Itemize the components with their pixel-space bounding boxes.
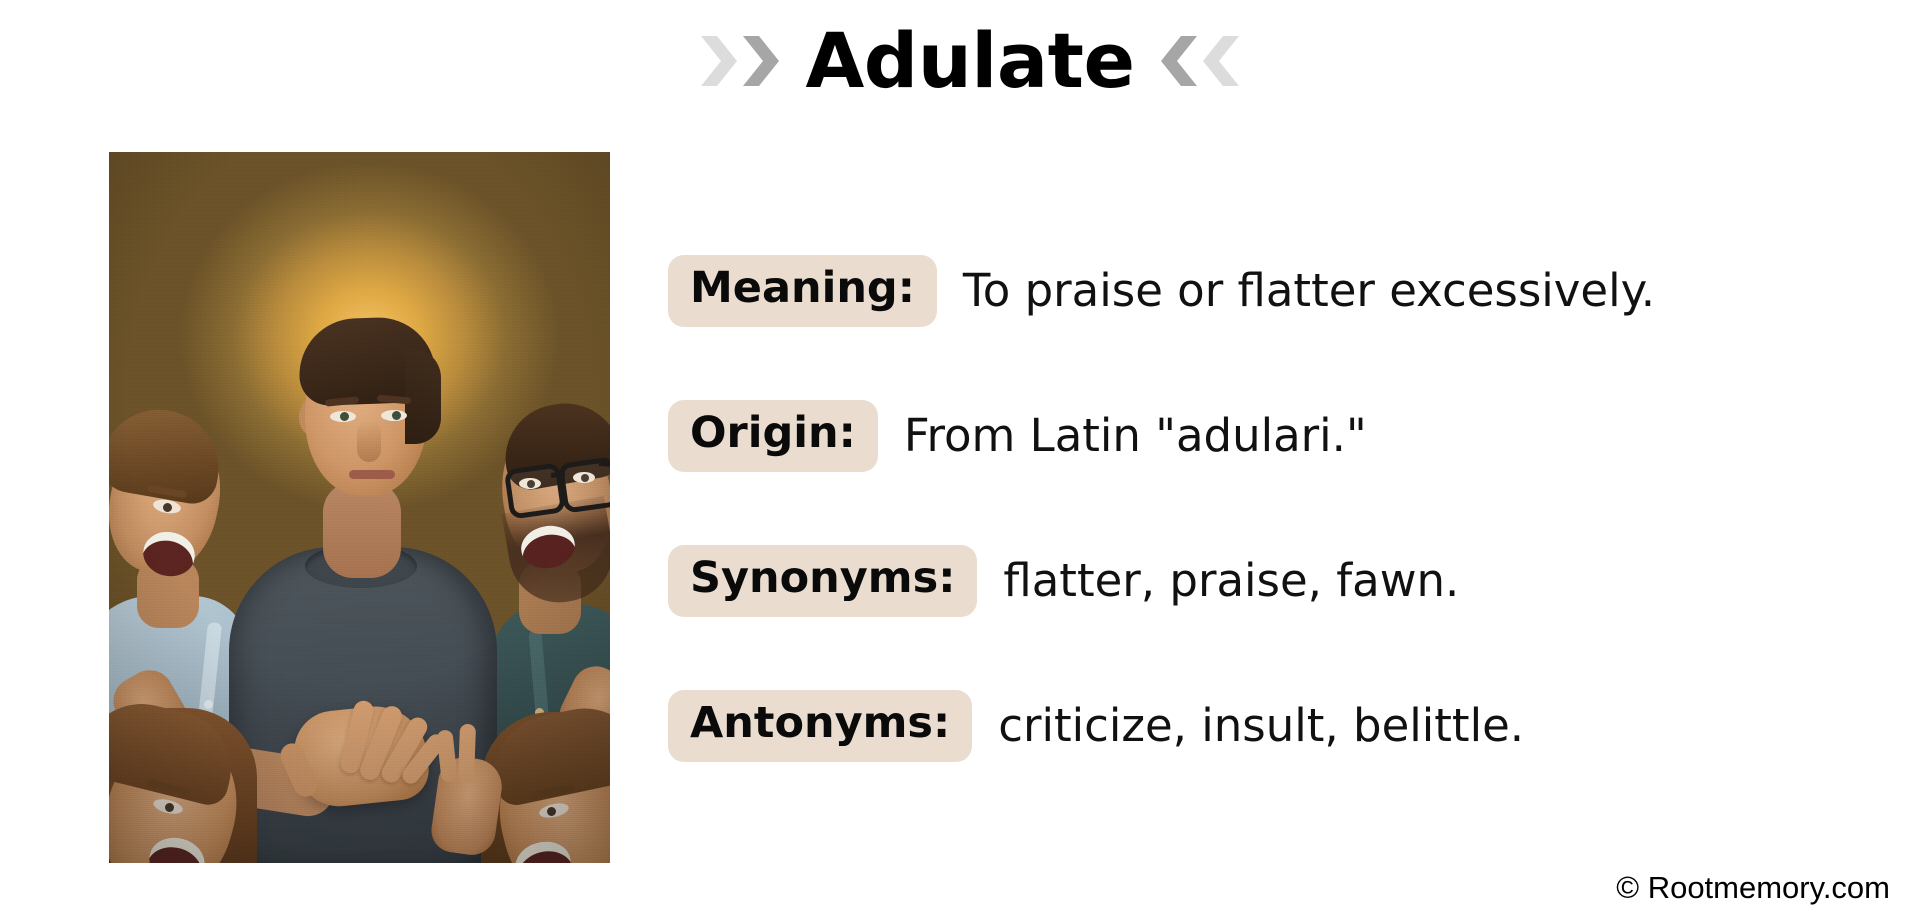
page-title: Adulate — [620, 6, 1320, 116]
definition-list: Meaning: To praise or flatter excessivel… — [668, 248, 1655, 769]
origin-label: Origin: — [668, 400, 878, 471]
meaning-value: To praise or flatter excessively. — [963, 266, 1655, 316]
synonyms-label: Synonyms: — [668, 545, 977, 616]
origin-value: From Latin "adulari." — [904, 411, 1367, 461]
definition-row-antonyms: Antonyms: criticize, insult, belittle. — [668, 683, 1655, 769]
antonyms-value: criticize, insult, belittle. — [998, 701, 1524, 751]
definition-row-meaning: Meaning: To praise or flatter excessivel… — [668, 248, 1655, 334]
photo-grain — [109, 152, 610, 863]
word-title-text: Adulate — [805, 23, 1134, 99]
antonyms-label: Antonyms: — [668, 690, 972, 761]
illustration-photo — [109, 152, 610, 863]
double-chevron-right-icon — [699, 32, 783, 90]
copyright-notice: © Rootmemory.com — [1616, 870, 1890, 906]
double-chevron-left-icon — [1157, 32, 1241, 90]
definition-row-origin: Origin: From Latin "adulari." — [668, 393, 1655, 479]
definition-row-synonyms: Synonyms: flatter, praise, fawn. — [668, 538, 1655, 624]
synonyms-value: flatter, praise, fawn. — [1003, 556, 1459, 606]
photo-canvas — [109, 152, 610, 863]
meaning-label: Meaning: — [668, 255, 937, 326]
word-card-page: { "header": { "word": "Adulate", "left_c… — [0, 0, 1920, 924]
